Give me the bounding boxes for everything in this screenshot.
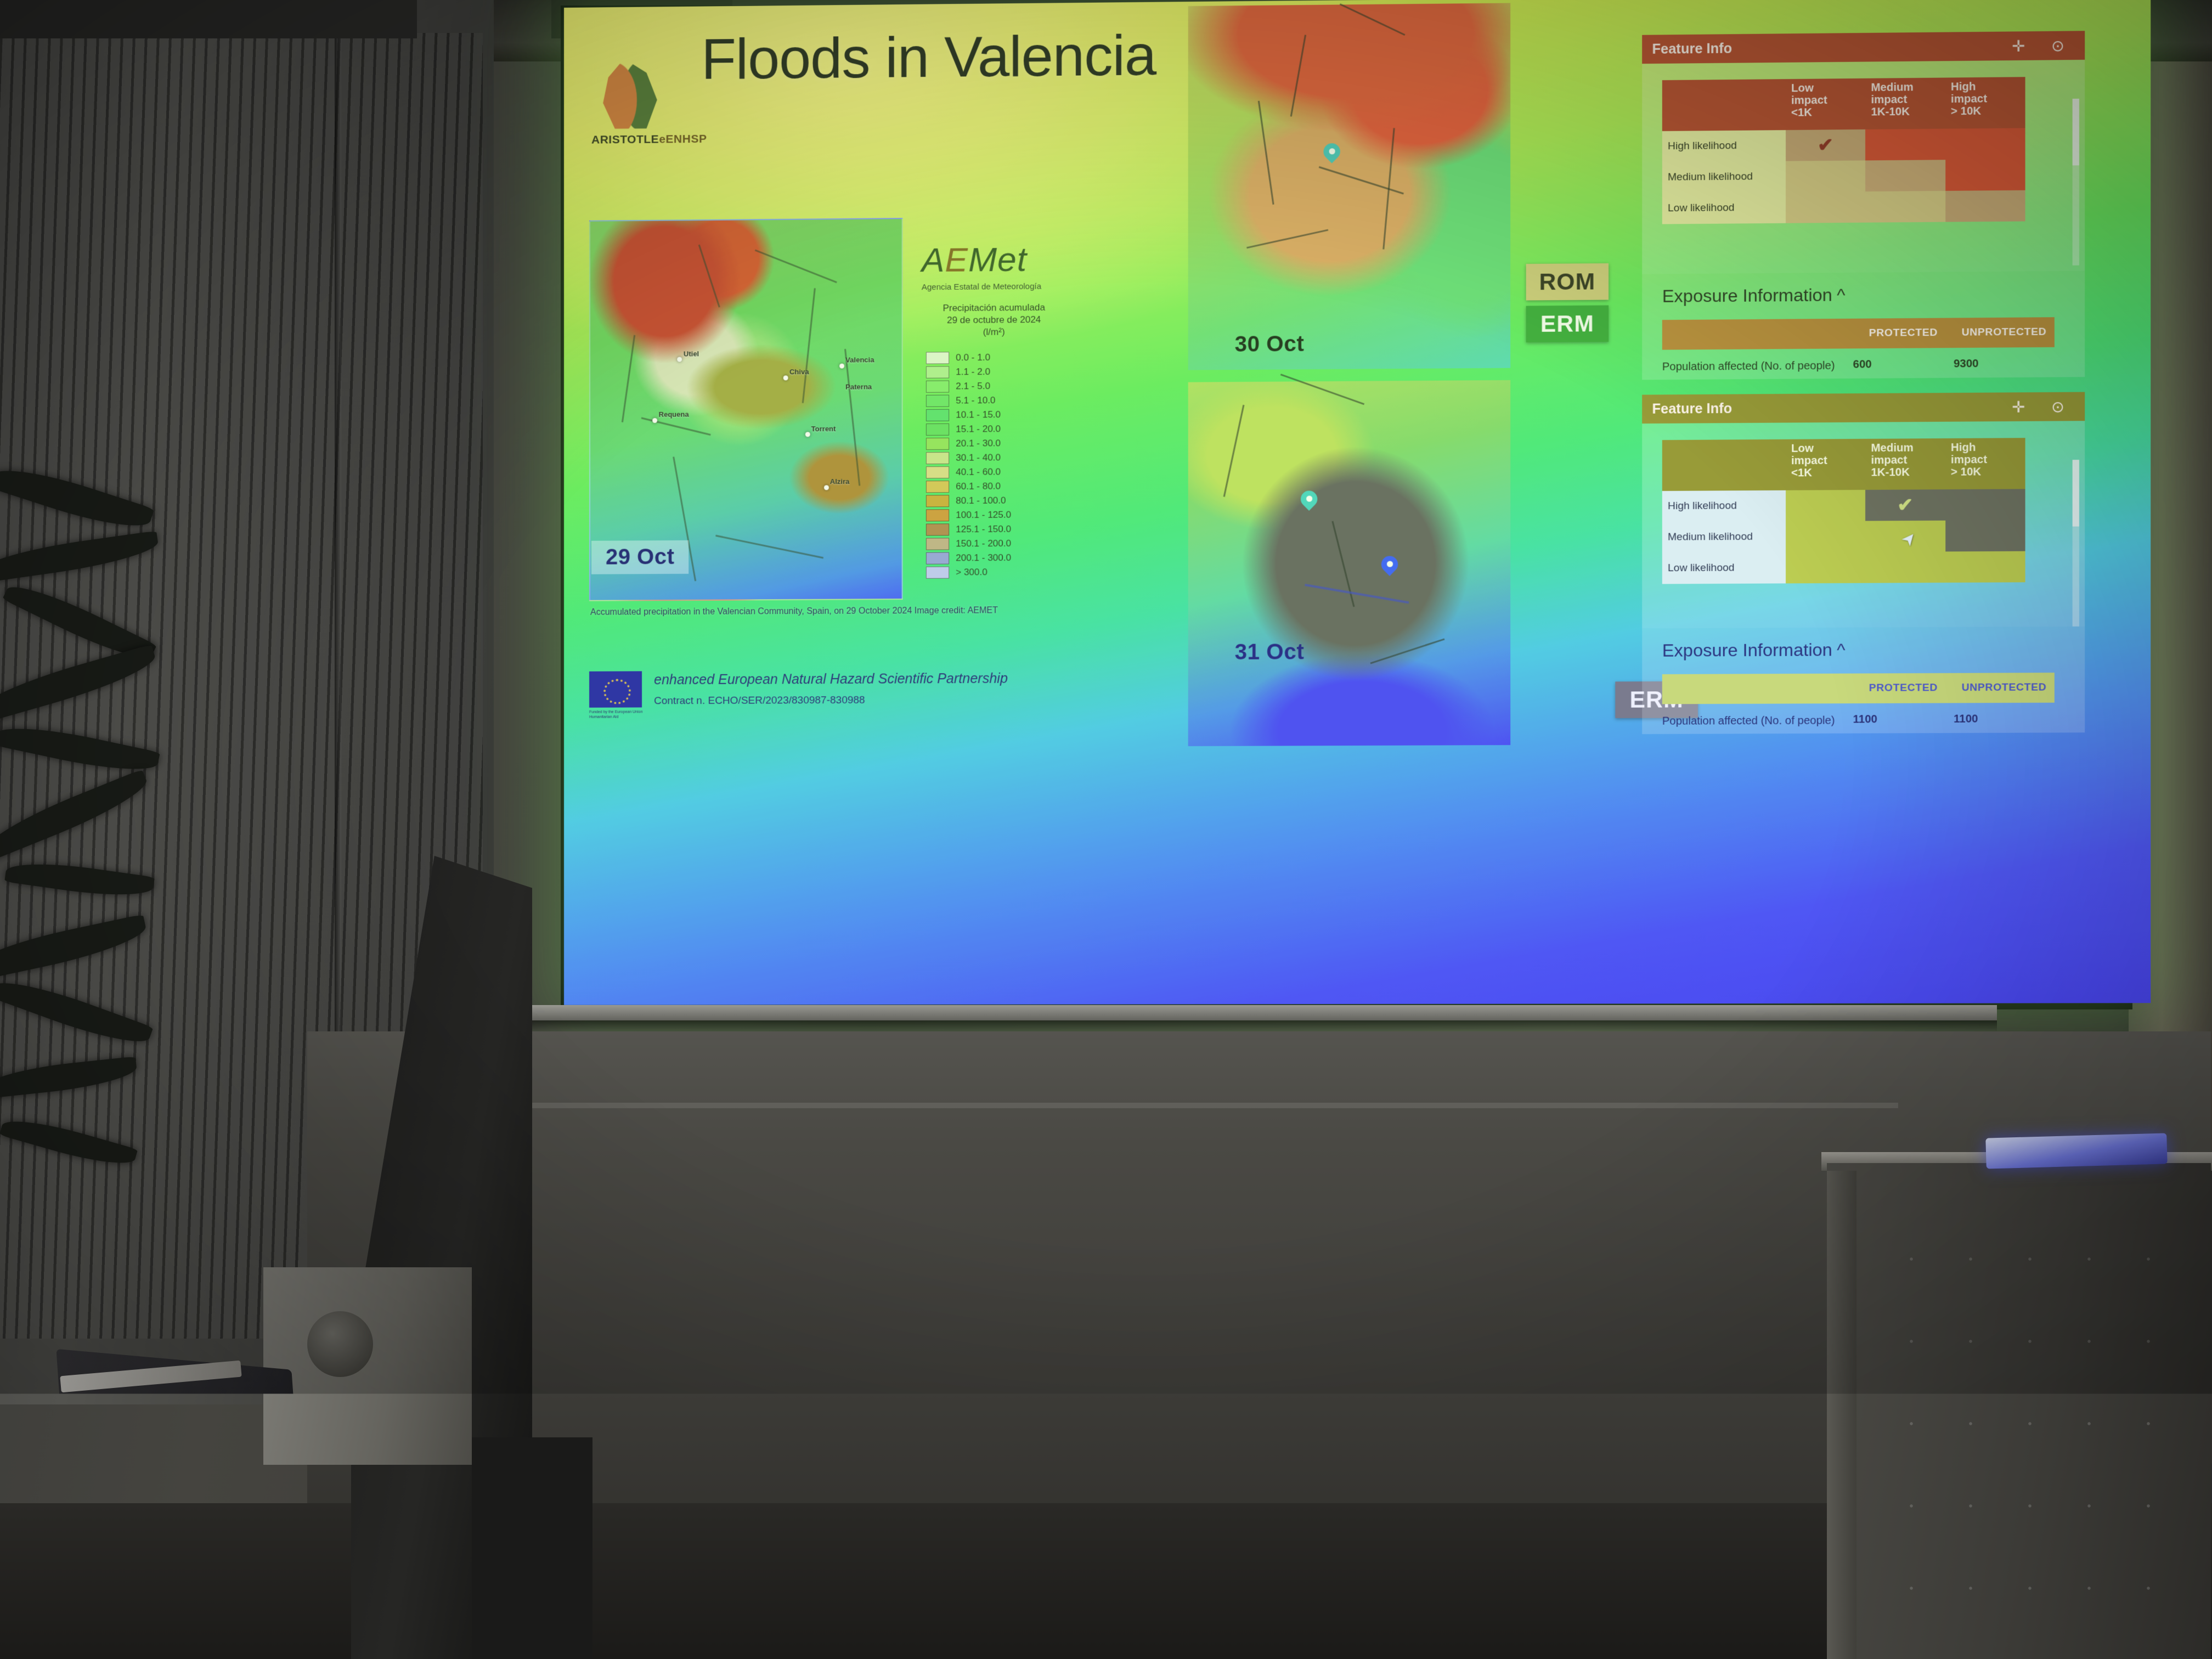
rail-shadow xyxy=(483,1020,1997,1031)
room-photo: ARISTOTLEeENHSP Floods in Valencia Utiel… xyxy=(0,0,2212,1659)
panel-top-shadow xyxy=(0,0,417,38)
projector-stand-base xyxy=(472,1437,592,1659)
screen-surface-sheen xyxy=(564,0,2151,1005)
cabinet-side xyxy=(1827,1171,1857,1659)
papers-on-cabinet xyxy=(1985,1133,2167,1169)
laptop-lid xyxy=(56,1349,311,1657)
potted-plant xyxy=(0,461,214,1284)
projection-screen: ARISTOTLEeENHSP Floods in Valencia Utiel… xyxy=(549,0,2140,1015)
cabinet-perforations xyxy=(1882,1218,2189,1635)
screen-bottom-rail xyxy=(483,1005,1997,1020)
lower-wall-lip xyxy=(494,1103,1898,1108)
projected-slide: ARISTOTLEeENHSP Floods in Valencia Utiel… xyxy=(564,0,2151,1005)
laptop xyxy=(0,1361,340,1659)
